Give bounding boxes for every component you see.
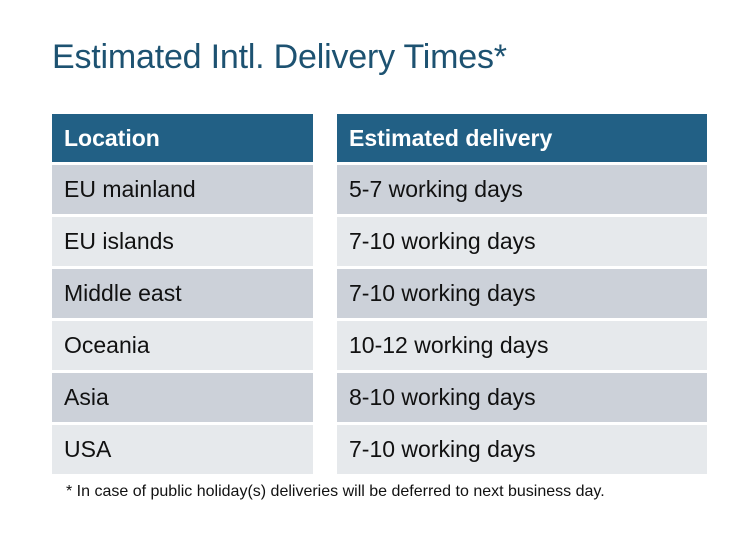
table-row: Asia 8-10 working days [52, 373, 691, 422]
cell-delivery: 5-7 working days [337, 165, 707, 214]
cell-location: Asia [52, 373, 313, 422]
cell-location: Oceania [52, 321, 313, 370]
cell-delivery: 7-10 working days [337, 269, 707, 318]
table-row: EU mainland 5-7 working days [52, 165, 691, 214]
cell-location: Middle east [52, 269, 313, 318]
cell-location: USA [52, 425, 313, 474]
page-title: Estimated Intl. Delivery Times* [52, 36, 507, 78]
cell-delivery: 7-10 working days [337, 425, 707, 474]
table-row: Oceania 10-12 working days [52, 321, 691, 370]
column-gap [313, 425, 337, 474]
table-row: Middle east 7-10 working days [52, 269, 691, 318]
cell-delivery: 10-12 working days [337, 321, 707, 370]
column-gap [313, 321, 337, 370]
column-header-delivery: Estimated delivery [337, 114, 707, 162]
column-gap [313, 373, 337, 422]
cell-location: EU mainland [52, 165, 313, 214]
cell-location: EU islands [52, 217, 313, 266]
cell-delivery: 8-10 working days [337, 373, 707, 422]
column-gap [313, 217, 337, 266]
footnote-text: * In case of public holiday(s) deliverie… [66, 481, 605, 503]
cell-delivery: 7-10 working days [337, 217, 707, 266]
delivery-times-page: Estimated Intl. Delivery Times* Location… [0, 0, 745, 536]
table-row: EU islands 7-10 working days [52, 217, 691, 266]
column-header-location: Location [52, 114, 313, 162]
table-row: USA 7-10 working days [52, 425, 691, 474]
delivery-times-table: Location Estimated delivery EU mainland … [52, 114, 691, 474]
column-gap [313, 114, 337, 162]
table-header-row: Location Estimated delivery [52, 114, 691, 162]
column-gap [313, 165, 337, 214]
column-gap [313, 269, 337, 318]
